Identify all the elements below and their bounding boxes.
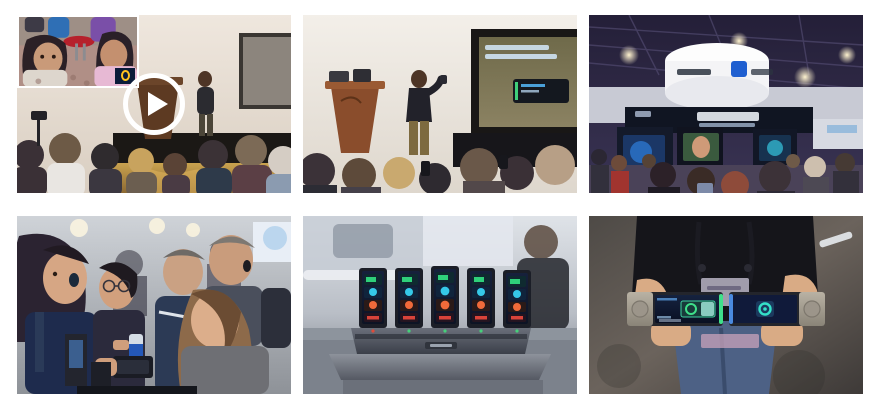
gallery-tile-device-dock[interactable]: Five handheld translator devices standin… [303, 216, 577, 394]
gallery-tile-stage-presentation[interactable]: Instant and Immersive Interpretation Exp… [303, 15, 577, 193]
photo-gallery-grid: Play Speaker on stage presenting to a se… [17, 15, 863, 394]
handheld-devices-photo [589, 216, 863, 394]
gallery-tile-video[interactable]: Play Speaker on stage presenting to a se… [17, 15, 291, 193]
gallery-tile-handheld-devices[interactable]: Person holding two translator devices wi… [589, 216, 863, 394]
stage-presentation-photo [303, 15, 577, 193]
gallery-page: Play Speaker on stage presenting to a se… [0, 0, 880, 413]
booth-demo-photo [17, 216, 291, 394]
charging-dock-photo [303, 216, 577, 394]
expo-hall-photo [589, 15, 863, 193]
play-button[interactable]: Play [123, 73, 185, 135]
gallery-tile-expo-booth[interactable]: Timekettle 9160 Trade show exhibition ha… [589, 15, 863, 193]
gallery-tile-booth-demo[interactable]: Booth staff demonstrating translator ear… [17, 216, 291, 394]
picture-in-picture-inset [17, 15, 139, 88]
